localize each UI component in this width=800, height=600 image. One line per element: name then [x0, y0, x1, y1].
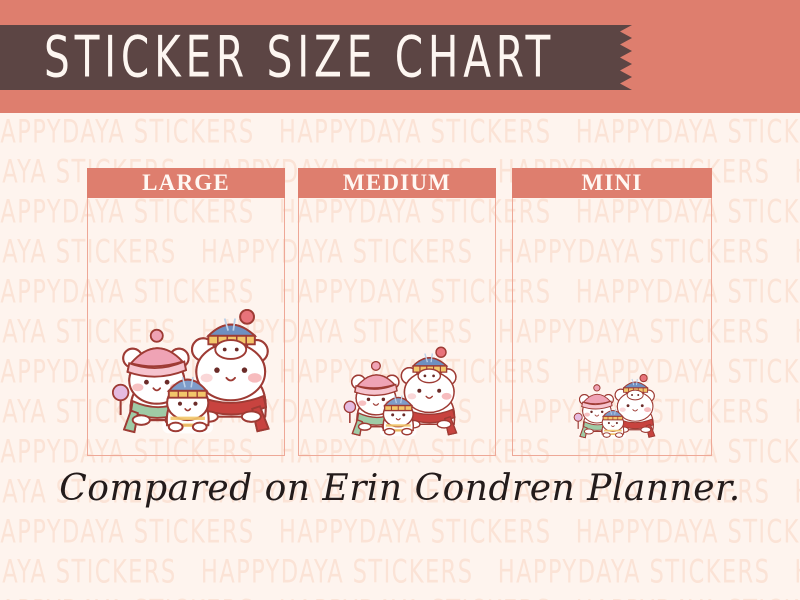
size-card-medium: MEDIUM — [298, 168, 496, 456]
size-card-body — [87, 198, 285, 456]
watermark-row: HAPPYDAYA STICKERSHAPPYDAYA STICKERSHAPP… — [0, 113, 743, 157]
size-card-body — [298, 198, 496, 456]
size-card-large: LARGE — [87, 168, 285, 456]
title-banner: STICKER SIZE CHART — [0, 25, 618, 90]
size-card-header: MINI — [512, 168, 712, 198]
size-card-label: LARGE — [142, 170, 230, 196]
sticker-artwork-svg — [568, 362, 657, 444]
sticker-size-chart-page: HAPPYDAYA STICKERSHAPPYDAYA STICKERSHAPP… — [0, 0, 800, 600]
size-card-row: LARGE — [0, 168, 800, 458]
banner-zigzag-edge-icon — [618, 25, 634, 90]
size-card-header: LARGE — [87, 168, 285, 198]
sticker-preview-large — [100, 286, 272, 449]
page-title: STICKER SIZE CHART — [44, 24, 555, 91]
size-card-body — [512, 198, 712, 456]
caption-text: Compared on Erin Condren Planner. — [0, 468, 800, 509]
watermark-row: HAPPYDAYA STICKERSHAPPYDAYA STICKERSHAPP… — [0, 589, 743, 600]
watermark-row: HAPPYDAYA STICKERSHAPPYDAYA STICKERSHAPP… — [0, 509, 743, 556]
sticker-artwork-svg — [335, 330, 459, 444]
sticker-artwork-svg — [100, 286, 272, 444]
size-card-mini: MINI — [512, 168, 712, 456]
size-card-label: MINI — [581, 170, 642, 196]
sticker-preview-mini — [568, 362, 657, 449]
sticker-preview-medium — [335, 330, 459, 449]
size-card-header: MEDIUM — [298, 168, 496, 198]
size-card-label: MEDIUM — [343, 170, 451, 196]
watermark-row: HAPPYDAYA STICKERSHAPPYDAYA STICKERSHAPP… — [0, 549, 737, 596]
